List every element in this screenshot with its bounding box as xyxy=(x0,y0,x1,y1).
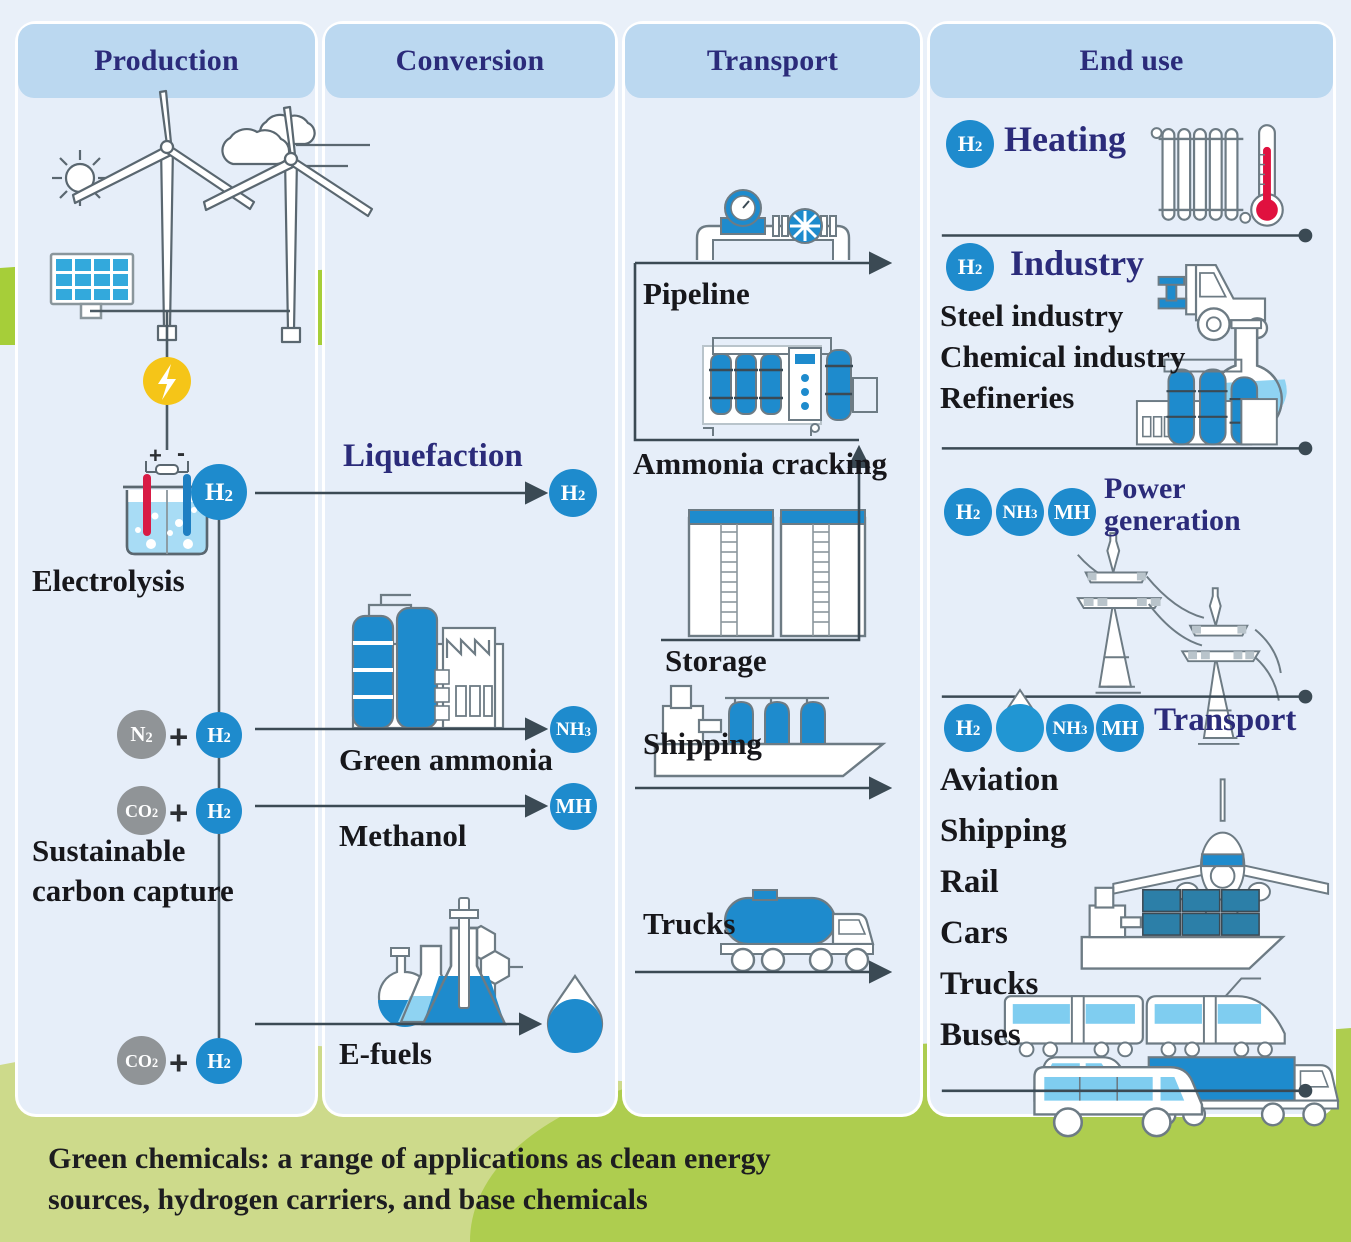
label-methanol: Methanol xyxy=(339,818,466,854)
chip-enduse-transport-h2: H2 xyxy=(944,704,992,752)
label-enduse-transport: Transport xyxy=(1154,702,1296,739)
label-transport-item-rail: Rail xyxy=(940,864,999,901)
solar-panel-icon xyxy=(51,254,133,318)
chip-enduse-heating-h2: H2 xyxy=(946,120,994,168)
column-header-transport: Transport xyxy=(625,24,920,98)
label-green-ammonia: Green ammonia xyxy=(339,742,553,778)
chip-enduse-power-mh: MH xyxy=(1048,488,1096,536)
column-transport: Transport xyxy=(625,24,920,1114)
label-transport-item-buses: Buses xyxy=(940,1017,1021,1054)
column-production: Production xyxy=(18,24,315,1114)
transmission-tower-icon xyxy=(1078,533,1204,693)
pipeline-icon xyxy=(697,190,849,260)
tanker-truck-icon xyxy=(721,890,873,971)
label-electrolysis: Electrolysis xyxy=(32,563,185,599)
label-transport-item-aviation: Aviation xyxy=(940,762,1059,799)
lightning-bolt-icon xyxy=(143,357,191,405)
conversion-artwork xyxy=(325,98,615,1114)
container-ship-icon xyxy=(1082,888,1283,969)
label-trucks: Trucks xyxy=(643,906,735,942)
chip-co2-methanol: CO2 xyxy=(117,786,166,835)
plus-n2-h2: + xyxy=(169,718,188,756)
label-industry-item-refineries: Refineries xyxy=(940,380,1074,416)
chip-product-nh3: NH3 xyxy=(550,706,597,753)
caption-line-1: Green chemicals: a range of applications… xyxy=(48,1138,948,1179)
label-industry-item-chemical: Chemical industry xyxy=(940,339,1185,375)
chip-co2-efuels: CO2 xyxy=(117,1036,166,1085)
transport-artwork xyxy=(625,98,920,1114)
column-header-production: Production xyxy=(18,24,315,98)
svg-text:-: - xyxy=(177,440,185,467)
label-efuels: E-fuels xyxy=(339,1036,432,1072)
column-body-production: + - xyxy=(18,98,315,1114)
label-carbon-capture-line1: Sustainable xyxy=(32,833,185,869)
label-enduse-heating: Heating xyxy=(1004,118,1126,160)
endpoint-dot-transport xyxy=(1299,1084,1313,1098)
endpoint-dot-heating xyxy=(1299,229,1313,243)
column-header-enduse: End use xyxy=(930,24,1333,98)
label-carbon-capture-line2: carbon capture xyxy=(32,873,234,909)
production-artwork: + - xyxy=(18,98,315,1114)
label-liquefaction: Liquefaction xyxy=(343,438,523,475)
radiator-icon xyxy=(1152,128,1251,223)
cracking-unit-icon xyxy=(703,338,877,436)
chemistry-flasks-icon xyxy=(378,898,523,1027)
label-transport-item-cars: Cars xyxy=(940,915,1008,952)
thermometer-icon xyxy=(1251,125,1283,226)
train-icon xyxy=(1005,978,1285,1056)
endpoint-dot-industry xyxy=(1299,441,1313,455)
chip-product-h2-liquefaction: H2 xyxy=(549,469,597,517)
label-enduse-power-line2: generation xyxy=(1104,506,1241,536)
endpoint-dot-power xyxy=(1299,690,1313,704)
chip-h2-efuels: H2 xyxy=(196,1038,242,1084)
column-enduse: End use xyxy=(930,24,1333,1114)
chip-product-mh: MH xyxy=(550,783,597,830)
plus-co2-h2-methanol: + xyxy=(169,794,188,832)
label-storage: Storage xyxy=(665,643,767,679)
chip-enduse-power-nh3: NH3 xyxy=(996,488,1044,536)
chip-enduse-transport-mh: MH xyxy=(1096,704,1144,752)
chip-h2-electrolysis: H2 xyxy=(191,464,247,520)
caption-line-2: sources, hydrogen carriers, and base che… xyxy=(48,1179,948,1220)
chip-enduse-transport-nh3: NH3 xyxy=(1046,704,1094,752)
storage-tanks-icon xyxy=(689,510,865,636)
column-body-conversion: Liquefaction H2 Green ammonia NH3 Methan… xyxy=(325,98,615,1114)
label-ammonia-cracking: Ammonia cracking xyxy=(633,446,887,482)
label-transport-item-trucks: Trucks xyxy=(940,966,1038,1003)
label-shipping: Shipping xyxy=(643,726,762,762)
chip-n2: N2 xyxy=(117,710,166,759)
plus-co2-h2-efuels: + xyxy=(169,1044,188,1082)
chip-enduse-power-h2: H2 xyxy=(944,488,992,536)
chip-h2-methanol: H2 xyxy=(196,788,242,834)
label-transport-item-shipping: Shipping xyxy=(940,813,1067,850)
column-header-conversion: Conversion xyxy=(325,24,615,98)
caption: Green chemicals: a range of applications… xyxy=(48,1138,948,1221)
label-industry-item-steel: Steel industry xyxy=(940,298,1123,334)
column-conversion: Conversion xyxy=(325,24,615,1114)
column-body-enduse: H2 Heating H2 Industry Steel industry Ch… xyxy=(930,98,1333,1114)
chip-enduse-industry-h2: H2 xyxy=(946,243,994,291)
chip-h2-ammonia: H2 xyxy=(196,712,242,758)
label-enduse-industry: Industry xyxy=(1010,242,1144,284)
label-enduse-power-line1: Power xyxy=(1104,474,1186,504)
ammonia-plant-icon xyxy=(353,595,503,728)
column-body-transport: Pipeline Ammonia cracking Storage Shippi… xyxy=(625,98,920,1114)
label-pipeline: Pipeline xyxy=(643,276,750,312)
water-droplet-icon xyxy=(548,976,602,1053)
pipeline-columns: Production xyxy=(18,24,1333,1114)
